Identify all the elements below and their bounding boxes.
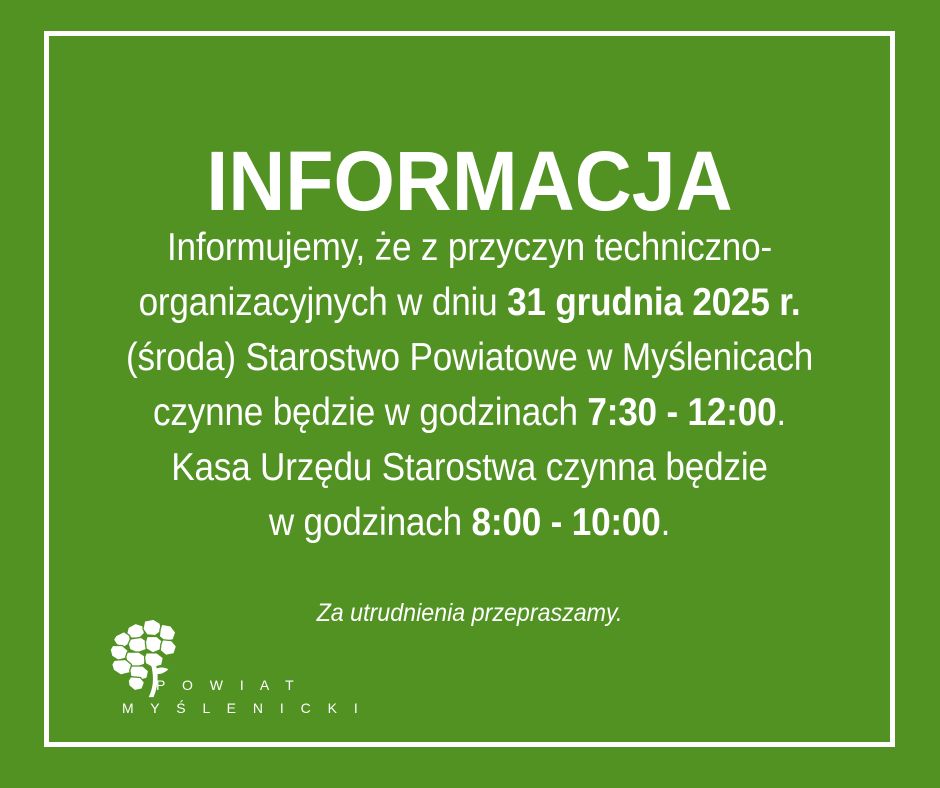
body-line-6-hours: 8:00 - 10:00 xyxy=(472,501,661,544)
body-line-3-text: (środa) Starostwo Powiatowe w Myślenicac… xyxy=(126,336,813,379)
body-line-4-period: . xyxy=(776,391,786,434)
body-line-2-date: 31 grudnia 2025 r. xyxy=(507,281,800,324)
body-line-5: Kasa Urzędu Starostwa czynna będzie xyxy=(91,440,848,495)
announcement-body: Informujemy, że z przyczyn techniczno- o… xyxy=(49,220,890,550)
logo-word-powiat: P O W I A T xyxy=(156,677,300,693)
logo-word-myslenicki: M Y Ś L E N I C K I xyxy=(122,700,364,716)
logo: P O W I A T M Y Ś L E N I C K I xyxy=(60,616,270,731)
body-line-4: czynne będzie w godzinach 7:30 - 12:00. xyxy=(91,385,848,440)
body-line-2: organizacyjnych w dniu 31 grudnia 2025 r… xyxy=(91,275,848,330)
body-line-6-text: w godzinach xyxy=(269,501,472,544)
body-line-5-text: Kasa Urzędu Starostwa czynna będzie xyxy=(171,446,768,489)
page-title: INFORMACJA xyxy=(74,136,865,226)
body-line-3: (środa) Starostwo Powiatowe w Myślenicac… xyxy=(91,330,848,385)
poster-content: INFORMACJA Informujemy, że z przyczyn te… xyxy=(49,36,890,742)
announcement-poster: INFORMACJA Informujemy, że z przyczyn te… xyxy=(0,0,940,788)
body-line-6-period: . xyxy=(661,501,671,544)
body-line-4-text: czynne będzie w godzinach xyxy=(153,391,587,434)
body-line-1-text: Informujemy, że z przyczyn techniczno- xyxy=(167,226,772,269)
body-line-6: w godzinach 8:00 - 10:00. xyxy=(91,495,848,550)
body-line-2-text: organizacyjnych w dniu xyxy=(139,281,508,324)
body-line-1: Informujemy, że z przyczyn techniczno- xyxy=(91,220,848,275)
body-line-4-hours: 7:30 - 12:00 xyxy=(587,391,776,434)
